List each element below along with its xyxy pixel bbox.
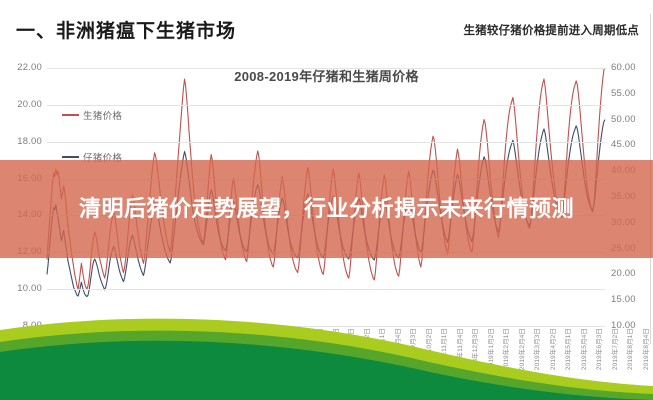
- y-axis-left-tick: 18.00: [17, 136, 42, 147]
- slide-subheading: 生猪较仔猪价格提前进入周期低点: [464, 22, 640, 38]
- x-axis-tick-label: 2017年12月3日: [221, 328, 231, 374]
- page-title: 一、非洲猪瘟下生猪市场: [16, 16, 236, 43]
- x-axis-tick-label: 2018年3月3日: [283, 328, 293, 370]
- y-axis-left-tick: 20.00: [17, 99, 42, 110]
- x-axis-tick-label: 2018年2月1日: [252, 328, 262, 370]
- gridline: [47, 326, 605, 327]
- x-axis-tick-label: 2017年11月1日: [190, 328, 200, 373]
- y-axis-left-tick: 10.00: [17, 283, 42, 294]
- x-axis-tick-label: 2019年8月1日: [624, 328, 634, 370]
- x-axis-tick-label: 2019年6月3日: [593, 328, 603, 370]
- x-axis-tick-label: 2017年11月4日: [206, 328, 216, 373]
- x-axis-tick-label: 2018年10月2日: [423, 328, 433, 374]
- gridline: [47, 68, 605, 69]
- chart-x-axis-labels: 2017年10月2日2017年11月1日2017年11月4日2017年12月3日…: [47, 328, 605, 400]
- x-axis-tick-label: 2019年4月2日: [547, 328, 557, 370]
- x-axis-tick-label: 2019年7月2日: [609, 328, 619, 370]
- x-axis-tick-label: 2018年12月3日: [469, 328, 479, 374]
- x-axis-tick-label: 2018年5月1日: [314, 328, 324, 370]
- y-axis-right-tick: 45.00: [611, 139, 636, 150]
- x-axis-tick-label: 2018年8月4日: [392, 328, 402, 370]
- y-axis-left-tick: 8.00: [23, 320, 42, 331]
- x-axis-tick-label: 2019年3月3日: [531, 328, 541, 370]
- slide-canvas: 一、非洲猪瘟下生猪市场 生猪较仔猪价格提前进入周期低点 2008-2019年仔猪…: [0, 0, 653, 400]
- legend-swatch-piglet: [62, 156, 79, 159]
- gridline: [47, 142, 605, 143]
- x-axis-tick-label: 2019年1月2日: [485, 328, 495, 370]
- x-axis-tick-label: 2017年10月2日: [175, 328, 185, 374]
- x-axis-tick-label: 2018年11月4日: [454, 328, 464, 373]
- gridline: [47, 289, 605, 290]
- x-axis-tick-label: 2018年11月1日: [438, 328, 448, 373]
- x-axis-tick-label: 2018年4月2日: [299, 328, 309, 370]
- gridline: [47, 105, 605, 106]
- y-axis-right-tick: 50.00: [611, 114, 636, 125]
- y-axis-right-tick: 60.00: [611, 62, 636, 73]
- y-axis-right-tick: 20.00: [611, 268, 636, 279]
- x-axis-tick-label: 2018年8月1日: [376, 328, 386, 370]
- x-axis-tick-label: 2019年5月4日: [578, 328, 588, 370]
- x-axis-tick-label: 2019年2月1日: [500, 328, 510, 370]
- x-axis-tick-label: 2019年8月4日: [640, 328, 650, 370]
- x-axis-tick-label: 2018年9月3日: [407, 328, 417, 370]
- x-axis-tick-label: 2018年2月4日: [268, 328, 278, 370]
- x-axis-tick-label: 2019年2月4日: [516, 328, 526, 370]
- y-axis-left-tick: 22.00: [17, 62, 42, 73]
- x-axis-tick-label: 2018年5月4日: [330, 328, 340, 370]
- legend-label-hog: 生猪价格: [83, 108, 122, 122]
- overlay-headline: 清明后猪价走势展望，行业分析揭示未来行情预测: [0, 160, 653, 258]
- x-axis-tick-label: 2018年6月3日: [345, 328, 355, 370]
- y-axis-right-tick: 15.00: [611, 294, 636, 305]
- legend-swatch-hog: [62, 114, 79, 117]
- x-axis-tick-label: 2019年5月1日: [562, 328, 572, 370]
- y-axis-right-tick: 55.00: [611, 88, 636, 99]
- legend-item-hog: 生猪价格: [62, 106, 122, 124]
- x-axis-tick-label: 2018年1月2日: [237, 328, 247, 370]
- x-axis-tick-label: 2018年7月2日: [361, 328, 371, 370]
